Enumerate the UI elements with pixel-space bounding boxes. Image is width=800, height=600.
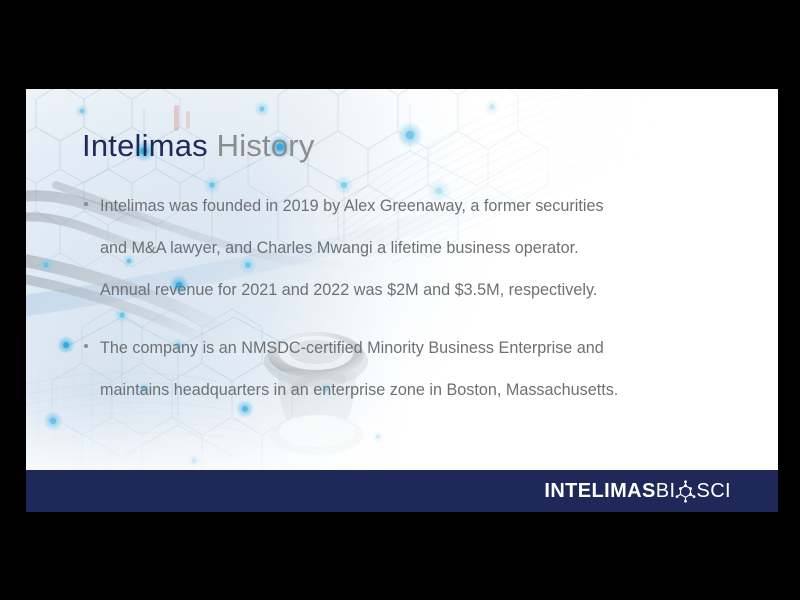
- bullet-text: The company is an NMSDC-certified Minori…: [84, 327, 760, 411]
- title-strong: Intelimas: [82, 128, 208, 163]
- title-light: History: [208, 128, 315, 163]
- intelimas-biosci-logo: INTELIMASBI: [544, 479, 731, 503]
- bullet-line: maintains headquarters in an enterprise …: [100, 369, 760, 411]
- bullet-dot-icon: [84, 202, 88, 206]
- screenshot-stage: Intelimas History Intelimas was founded …: [0, 0, 800, 600]
- slide-body: Intelimas was founded in 2019 by Alex Gr…: [84, 185, 760, 411]
- slide-footer-bar: INTELIMASBI: [26, 470, 778, 512]
- bullet-line: Annual revenue for 2021 and 2022 was $2M…: [100, 269, 760, 311]
- slide-title: Intelimas History: [82, 128, 315, 164]
- logo-word-bi: BI: [656, 480, 676, 503]
- bullet-line: Intelimas was founded in 2019 by Alex Gr…: [100, 185, 760, 227]
- bullet-text: Intelimas was founded in 2019 by Alex Gr…: [84, 185, 760, 311]
- bullet-line: and M&A lawyer, and Charles Mwangi a lif…: [100, 227, 760, 269]
- bullet-item: Intelimas was founded in 2019 by Alex Gr…: [84, 185, 760, 311]
- molecule-hexagon-icon: [675, 480, 696, 504]
- presentation-slide: Intelimas History Intelimas was founded …: [26, 89, 778, 512]
- bullet-item: The company is an NMSDC-certified Minori…: [84, 327, 760, 411]
- bullet-line: The company is an NMSDC-certified Minori…: [100, 327, 760, 369]
- bullet-dot-icon: [84, 344, 88, 348]
- logo-word-intelimas: INTELIMAS: [544, 480, 655, 503]
- logo-word-sci: SCI: [696, 480, 731, 503]
